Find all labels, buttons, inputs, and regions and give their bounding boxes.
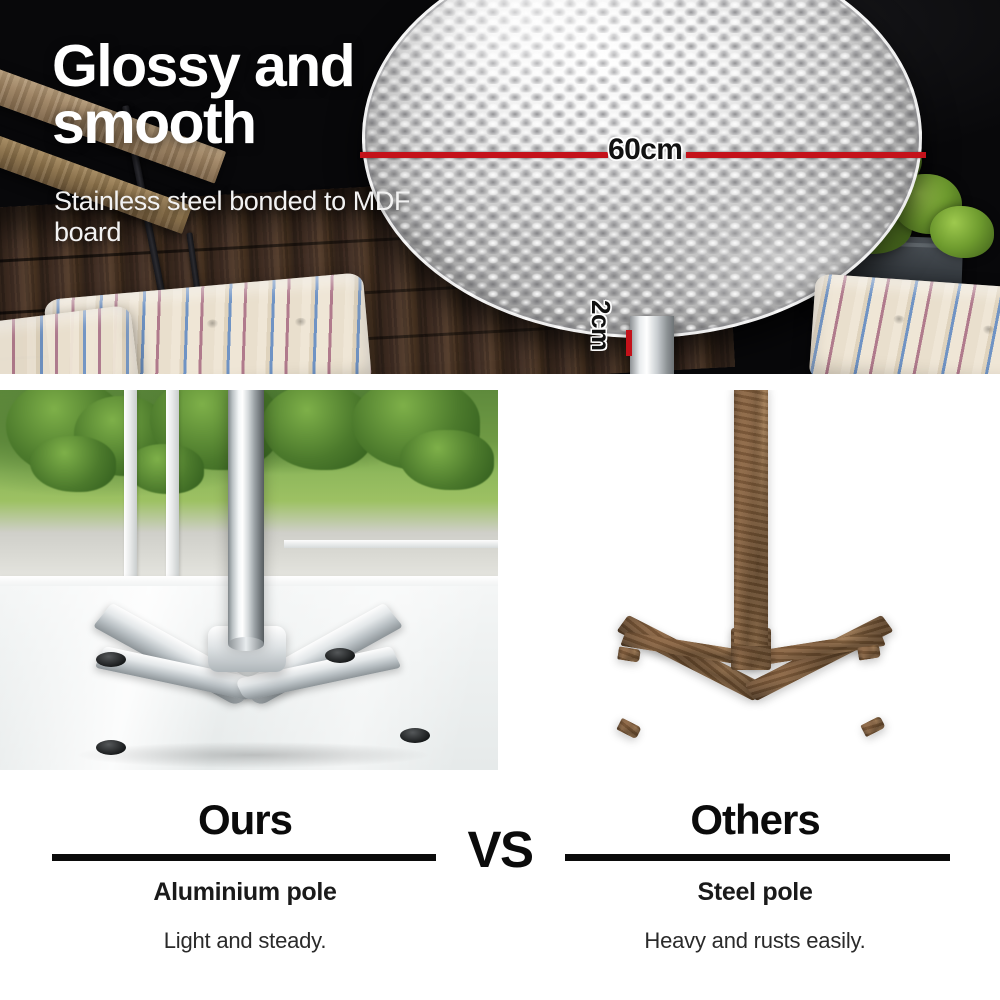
aluminium-pole [228,390,264,644]
ours-heading: Ours [90,796,400,844]
comparison-section: Ours Others VS Aluminium pole Steel pole… [0,770,1000,1000]
rusty-leg-tip [857,644,881,660]
product-infographic: 60cm 2cm Glossy and smooth Stainless ste… [0,0,1000,1000]
rusty-leg-tip [860,716,886,738]
others-heading: Others [600,796,910,844]
diameter-line-right [686,152,926,158]
base-foot [96,740,126,755]
rusty-steel-pole [734,390,768,646]
hero-subheadline: Stainless steel bonded to MDF board [54,186,474,248]
diameter-line-left [360,152,608,158]
ours-note: Light and steady. [90,928,400,954]
rusty-leg-tip [616,718,642,740]
hero-photo-panel: 60cm 2cm Glossy and smooth Stainless ste… [0,0,1000,374]
hero-headline: Glossy and smooth [52,38,472,152]
vs-label: VS [435,820,565,879]
ours-product-photo: 58mm [0,390,498,770]
others-subtitle: Steel pole [600,878,910,907]
others-product-photo [502,390,1000,770]
window-mullion [166,390,179,602]
window-mullion [124,390,137,602]
window-rail [284,540,498,548]
divider-rule-left [52,854,436,861]
others-note: Heavy and rusts easily. [600,928,910,954]
base-foot [400,728,430,743]
table-pole-upper [630,316,674,374]
striped-cushion [809,273,1000,374]
base-foot [325,648,355,663]
base-shadow [78,742,428,768]
base-foot [96,652,126,667]
ours-subtitle: Aluminium pole [90,878,400,907]
thickness-label: 2cm [585,300,616,351]
rusty-leg-tip [617,646,641,662]
diameter-label: 60cm [608,133,682,167]
divider-rule-right [565,854,950,861]
thickness-marker [626,330,632,356]
